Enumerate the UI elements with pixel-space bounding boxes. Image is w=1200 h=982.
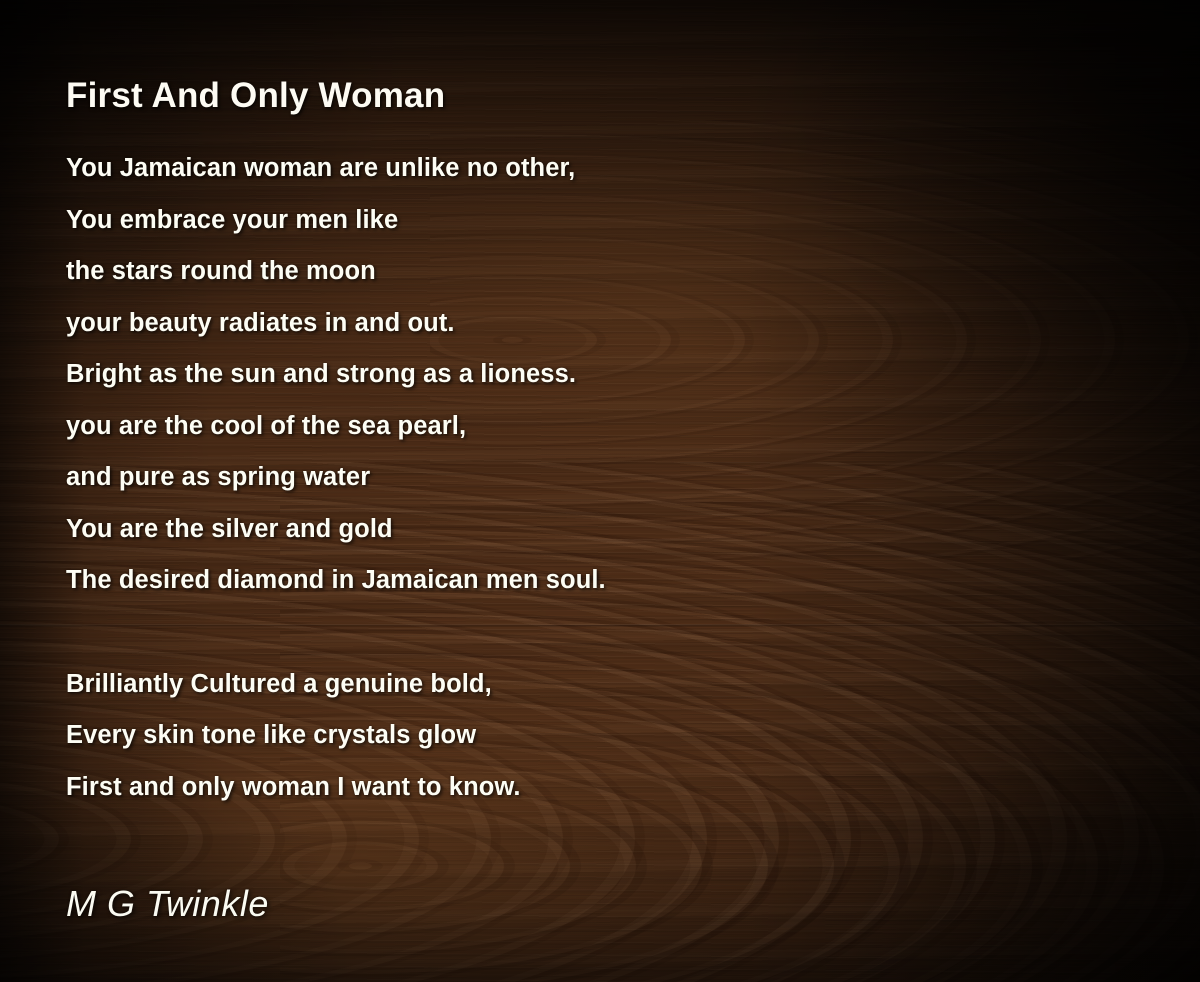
poem-line: The desired diamond in Jamaican men soul… bbox=[66, 555, 1126, 607]
poem-image-card: First And Only Woman You Jamaican woman … bbox=[0, 0, 1200, 982]
poem-line: and pure as spring water bbox=[66, 452, 1126, 504]
poem-line: Brilliantly Cultured a genuine bold, bbox=[66, 659, 1126, 711]
poem-content: First And Only Woman You Jamaican woman … bbox=[0, 0, 1200, 982]
poem-author-signature: M G Twinkle bbox=[66, 883, 269, 925]
poem-line: you are the cool of the sea pearl, bbox=[66, 401, 1126, 453]
poem-body: You Jamaican woman are unlike no other, … bbox=[66, 143, 1126, 813]
poem-line: your beauty radiates in and out. bbox=[66, 298, 1126, 350]
poem-line: You Jamaican woman are unlike no other, bbox=[66, 143, 1126, 195]
poem-stanza-1: You Jamaican woman are unlike no other, … bbox=[66, 143, 1126, 607]
poem-line: You embrace your men like bbox=[66, 195, 1126, 247]
poem-line: First and only woman I want to know. bbox=[66, 762, 1126, 814]
poem-line: Every skin tone like crystals glow bbox=[66, 710, 1126, 762]
poem-line: You are the silver and gold bbox=[66, 504, 1126, 556]
poem-line: Bright as the sun and strong as a liones… bbox=[66, 349, 1126, 401]
poem-title: First And Only Woman bbox=[66, 76, 445, 116]
poem-line: the stars round the moon bbox=[66, 246, 1126, 298]
stanza-separator bbox=[66, 607, 1126, 659]
poem-stanza-2: Brilliantly Cultured a genuine bold, Eve… bbox=[66, 659, 1126, 814]
